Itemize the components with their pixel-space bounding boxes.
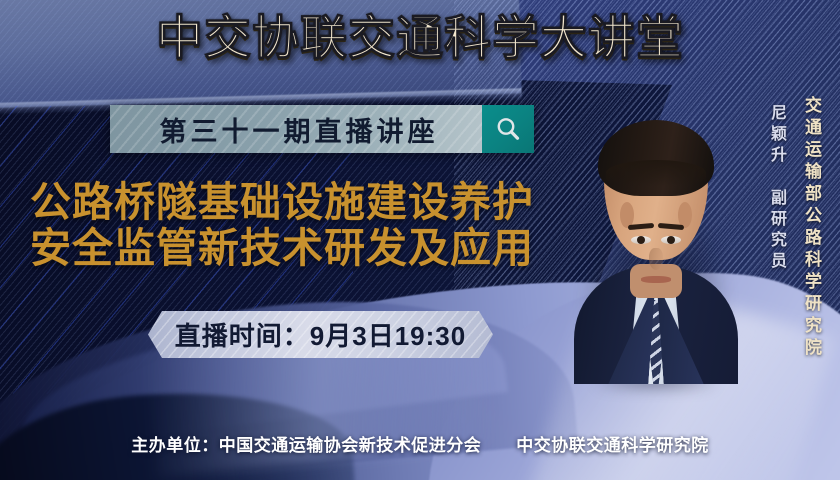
page-title: 中交协联交通科学大讲堂: [0, 14, 840, 61]
portrait-mouth: [641, 276, 671, 283]
session-label: 第三十一期直播讲座: [110, 105, 482, 153]
portrait-nose: [649, 248, 663, 270]
headline-line-2: 安全监管新技术研发及应用: [30, 226, 590, 272]
speaker-organization: 交通运输部公路科学研究院: [799, 96, 824, 360]
livestream-promo-poster: 中交协联交通科学大讲堂 第三十一期直播讲座 公路桥隧基础设施建设养护 安全监管新…: [0, 0, 840, 480]
portrait-brow-right: [658, 223, 684, 230]
footer-credits: 主办单位：中国交通运输协会新技术促进分会 中交协联交通科学研究院: [0, 431, 840, 456]
speaker-name-title: 尼颖升 副研究员: [764, 104, 788, 273]
footer-organizer: 主办单位：中国交通运输协会新技术促进分会: [131, 436, 481, 455]
search-icon[interactable]: [482, 105, 534, 153]
portrait-eye-left: [631, 236, 651, 244]
portrait-eye-right: [661, 236, 681, 244]
lecture-headline: 公路桥隧基础设施建设养护 安全监管新技术研发及应用: [30, 180, 590, 272]
broadcast-time-banner: 直播时间：9月3日19:30: [148, 311, 493, 358]
portrait-brow-left: [628, 223, 654, 230]
footer-institute: 中交协联交通科学研究院: [516, 436, 709, 455]
broadcast-time-label: 直播时间：9月3日19:30: [175, 316, 466, 353]
headline-line-1: 公路桥隧基础设施建设养护: [30, 180, 590, 226]
speaker-portrait: [582, 94, 730, 384]
session-banner: 第三十一期直播讲座: [110, 105, 534, 153]
